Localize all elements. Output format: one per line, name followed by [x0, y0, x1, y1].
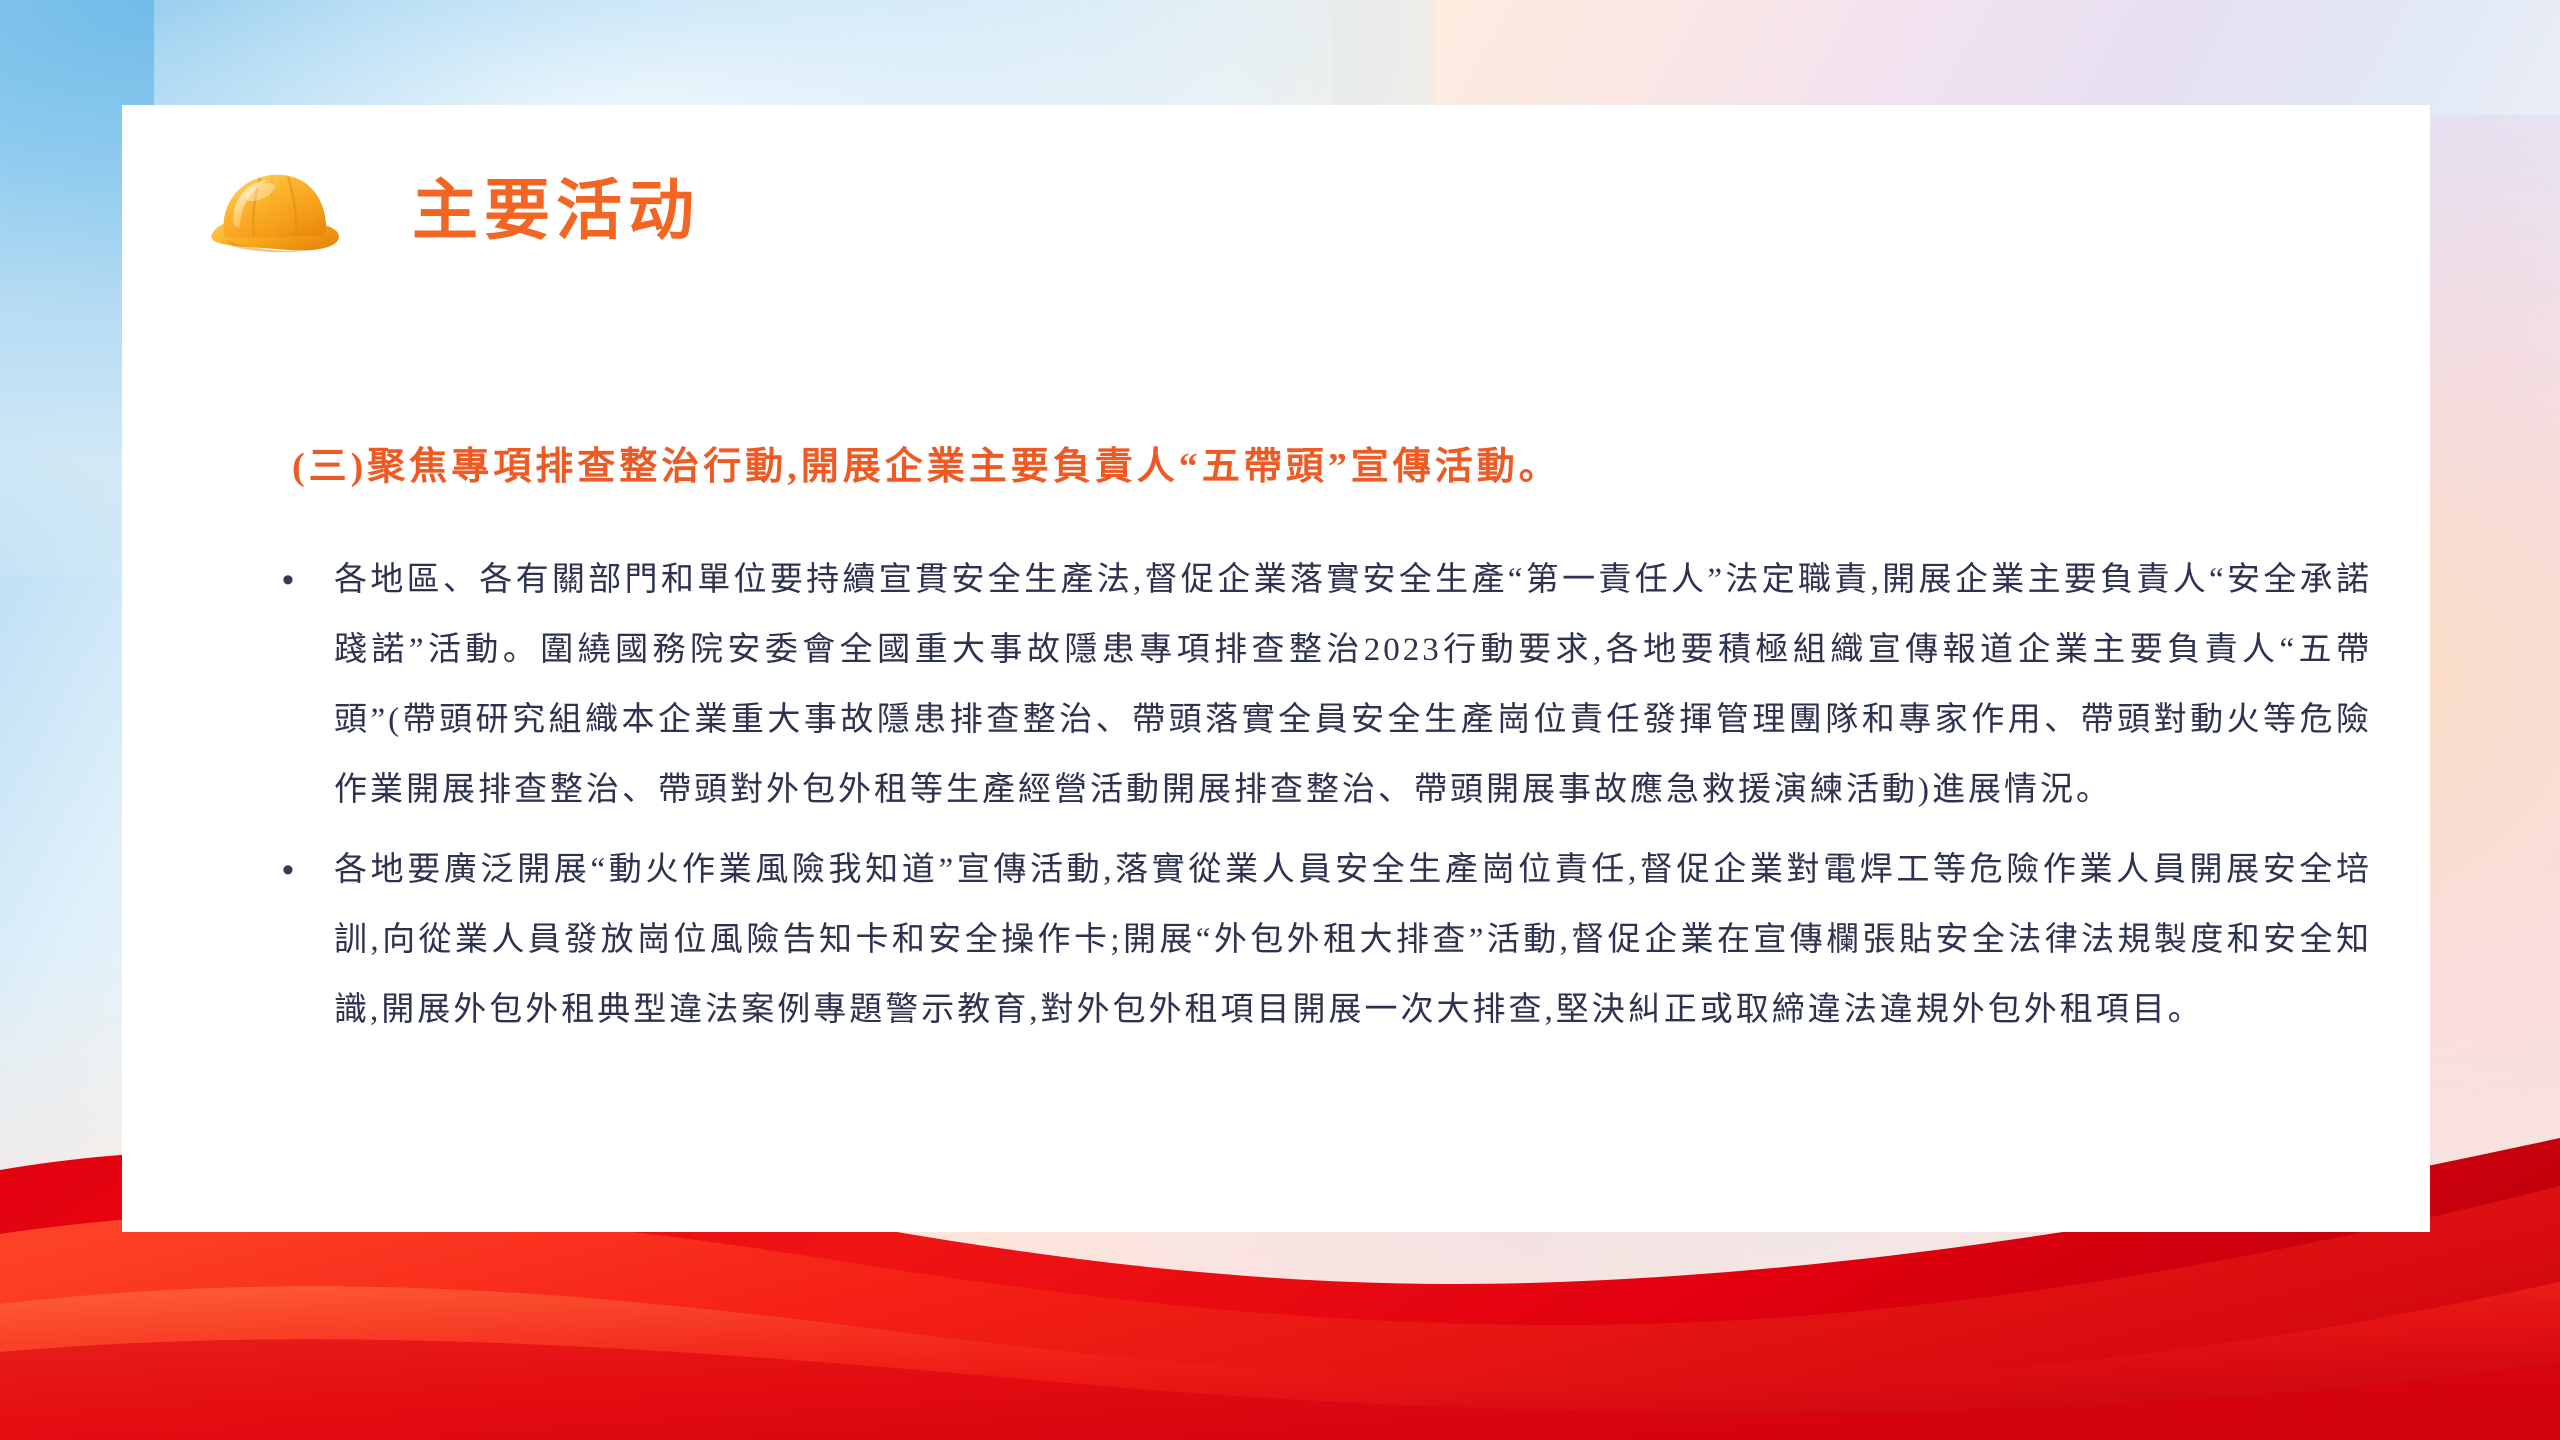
bullet-marker: • — [282, 545, 334, 597]
bullet-paragraph: 各地要廣泛開展“動火作業風險我知道”宣傳活動,落實從業人員安全生產崗位責任,督促… — [334, 835, 2372, 1045]
slide-canvas: 主要活动 (三)聚焦專項排查整治行動,開展企業主要負責人“五帶頭”宣傳活動。 •… — [0, 0, 2560, 1440]
slide-header: 主要活动 — [202, 155, 700, 265]
page-title: 主要活动 — [412, 177, 700, 243]
bullet-marker: • — [282, 835, 334, 887]
content-card: 主要活动 (三)聚焦專項排查整治行動,開展企業主要負責人“五帶頭”宣傳活動。 •… — [122, 105, 2430, 1232]
hard-hat-icon — [202, 162, 352, 258]
list-item: • 各地區、各有關部門和單位要持續宣貫安全生產法,督促企業落實安全生產“第一責任… — [282, 545, 2372, 825]
section-subtitle: (三)聚焦專項排查整治行動,開展企業主要負責人“五帶頭”宣傳活動。 — [292, 435, 1561, 490]
bullet-paragraph: 各地區、各有關部門和單位要持續宣貫安全生產法,督促企業落實安全生產“第一責任人”… — [334, 545, 2372, 825]
body-content: • 各地區、各有關部門和單位要持續宣貫安全生產法,督促企業落實安全生產“第一責任… — [282, 545, 2372, 1055]
list-item: • 各地要廣泛開展“動火作業風險我知道”宣傳活動,落實從業人員安全生產崗位責任,… — [282, 835, 2372, 1045]
